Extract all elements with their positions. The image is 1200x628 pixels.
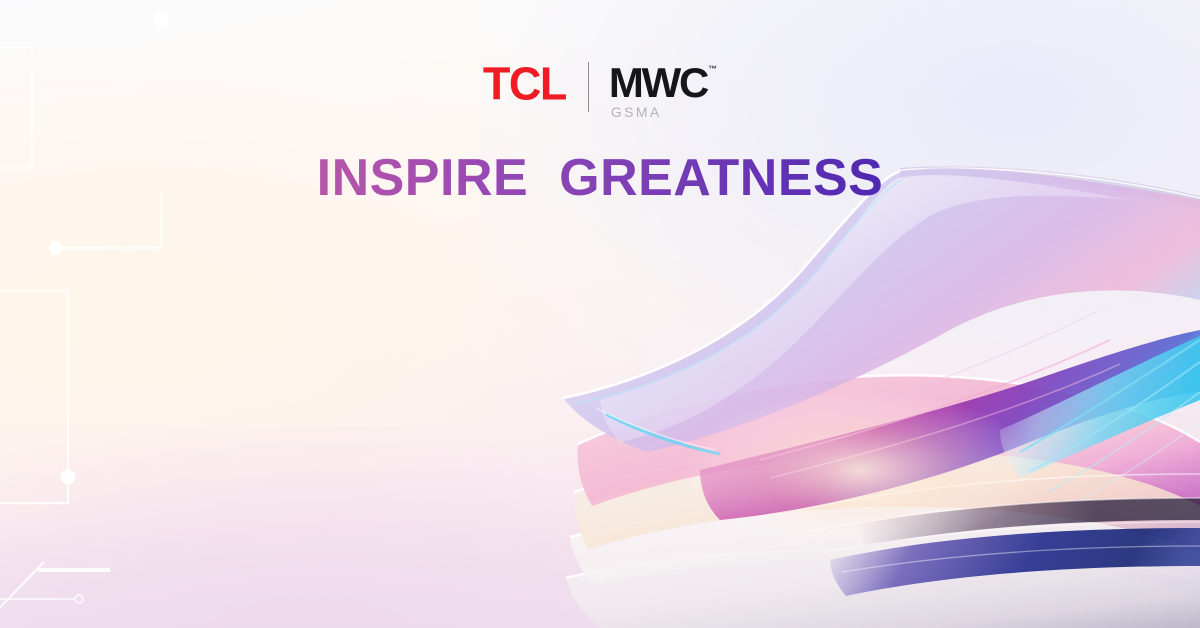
mwc-wordmark-row: MWC ™	[609, 62, 717, 104]
sheet-center-warm-glow	[680, 390, 1040, 550]
trademark-icon: ™	[708, 64, 717, 75]
page-title: INSPIRE GREATNESS	[0, 148, 1200, 208]
mwc-logo[interactable]: MWC ™ GSMA	[609, 62, 717, 120]
poster-canvas: TCL MWC ™ GSMA INSPIRE GREATNESS	[0, 0, 1200, 628]
gsma-subtitle: GSMA	[611, 104, 662, 120]
tcl-logo[interactable]: TCL	[483, 62, 566, 107]
mwc-wordmark: MWC	[609, 62, 707, 104]
logo-divider	[588, 62, 589, 112]
logo-lockup: TCL MWC ™ GSMA	[0, 62, 1200, 120]
